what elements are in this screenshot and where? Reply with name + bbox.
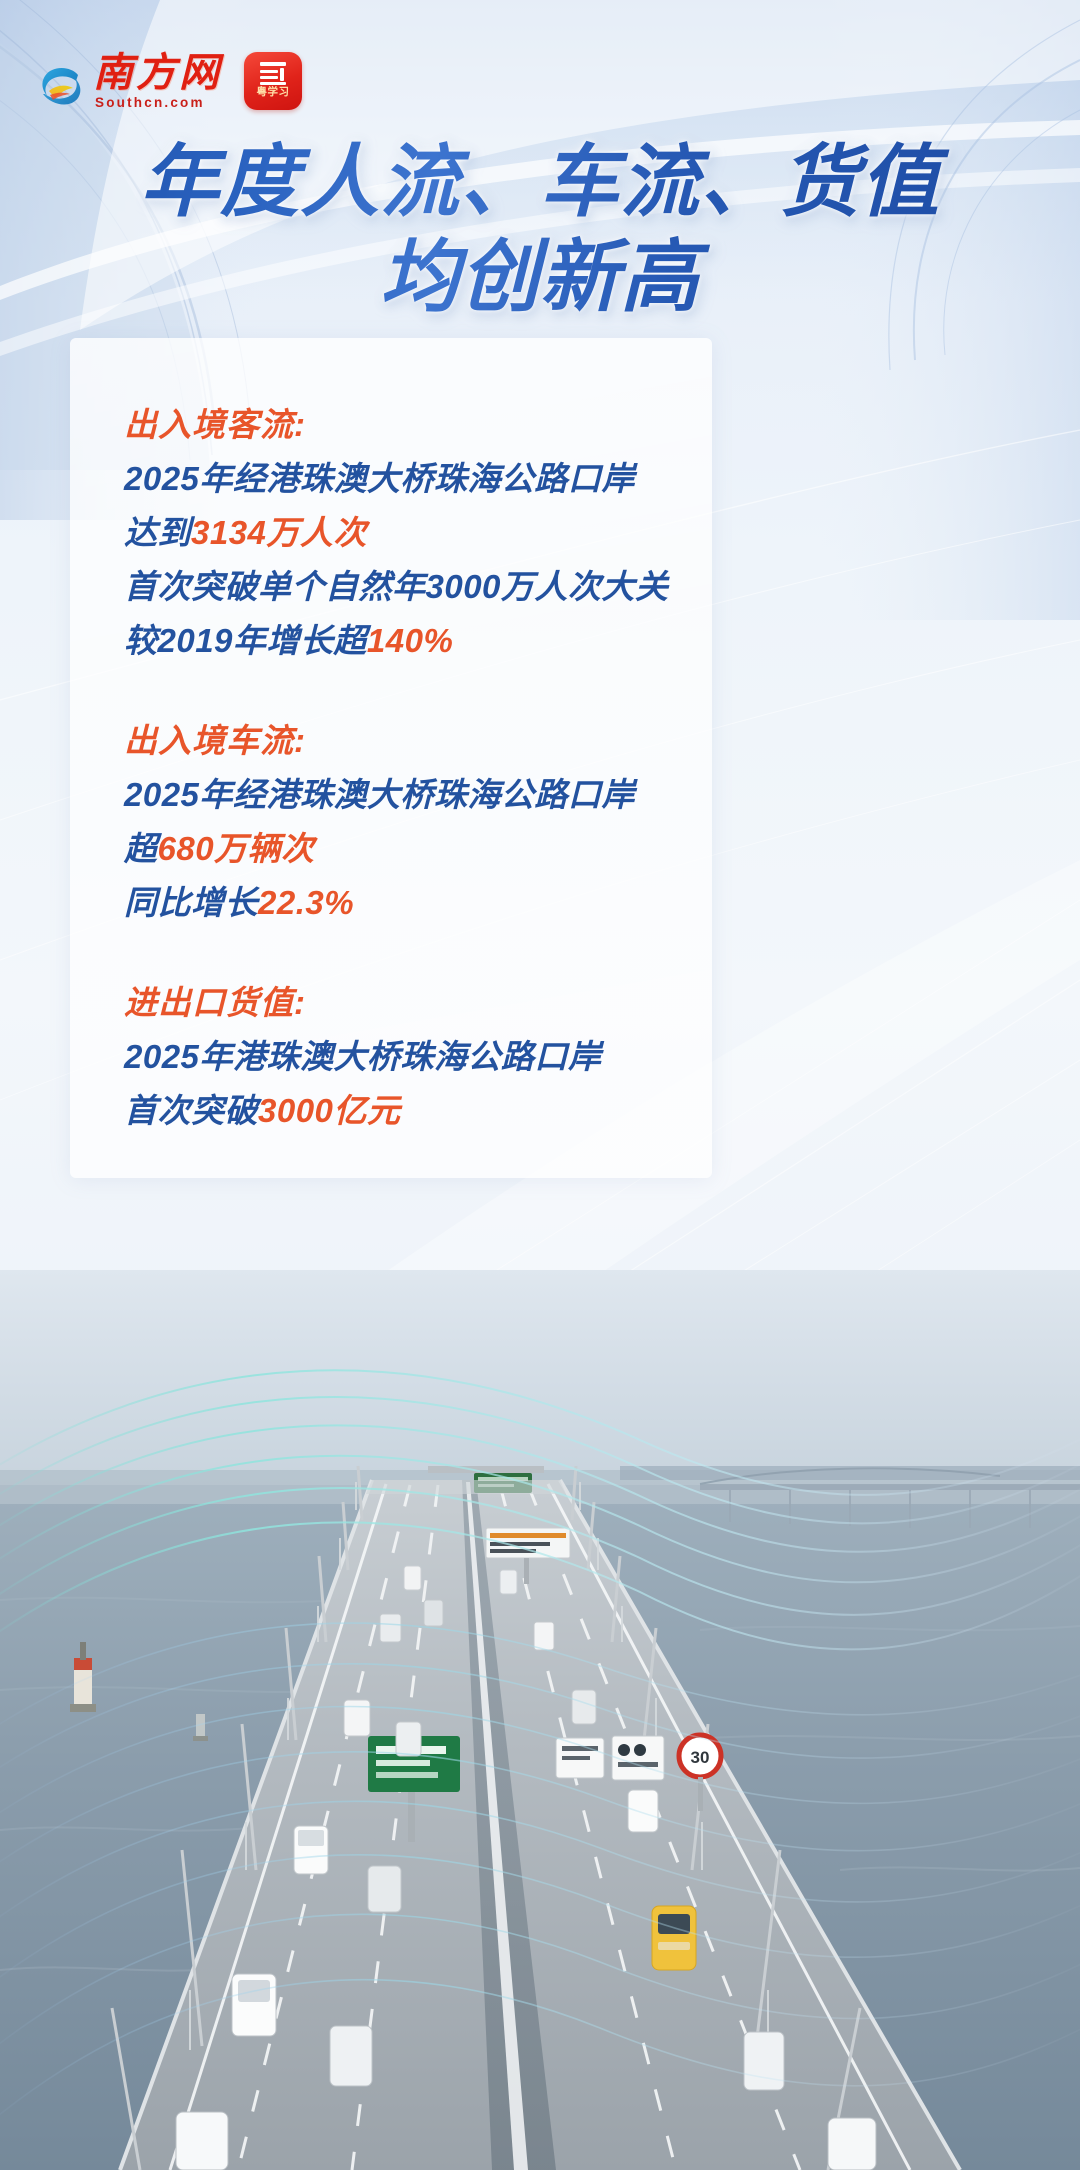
highlight-value: 140% <box>367 622 453 659</box>
book-icon <box>258 62 288 86</box>
stats-card-body: 出入境客流:2025年经港珠澳大桥珠海公路口岸达到3134万人次首次突破单个自然… <box>70 338 712 1138</box>
brand-header: 南方网 Southcn.com 粤学习 <box>38 52 302 110</box>
stat-block-heading: 进出口货值: <box>124 976 712 1030</box>
body-text: 3000万人次 <box>426 568 602 605</box>
stat-block-line: 2025年港珠澳大桥珠海公路口岸 <box>124 1030 712 1084</box>
body-text: 首次突破单个自然年 <box>124 568 426 605</box>
stat-block-heading: 出入境客流: <box>124 398 712 452</box>
southcn-logo[interactable]: 南方网 Southcn.com <box>38 53 222 110</box>
page-title-line-2: 均创新高 <box>0 229 1080 324</box>
stat-block-line: 达到3134万人次 <box>124 506 712 560</box>
body-text: 达到 <box>124 514 191 551</box>
stat-block-line: 2025年经港珠澳大桥珠海公路口岸 <box>124 452 712 506</box>
stat-block: 进出口货值:2025年港珠澳大桥珠海公路口岸首次突破3000亿元 <box>124 976 712 1138</box>
highlight-value: 3000亿元 <box>258 1092 400 1129</box>
stat-block-line: 首次突破3000亿元 <box>124 1084 712 1138</box>
hong-kong-zhuhai-macao-bridge-photo: 30 <box>0 1270 1080 2170</box>
stat-block-line: 2025年经港珠澳大桥珠海公路口岸 <box>124 768 712 822</box>
yuexuexi-badge-label: 粤学习 <box>257 87 290 98</box>
body-text: 2025年港珠澳大桥珠海公路口岸 <box>124 1038 601 1075</box>
highlight-value: 22.3% <box>258 884 354 921</box>
page-title-line-1: 年度人流、车流、货值 <box>0 134 1080 229</box>
stat-block-line: 首次突破单个自然年3000万人次大关 <box>124 560 712 614</box>
body-text: 超 <box>124 830 158 867</box>
yuexuexi-app-badge[interactable]: 粤学习 <box>244 52 302 110</box>
body-text: 2025年经港珠澳大桥珠海公路口岸 <box>124 460 635 497</box>
stat-block-heading: 出入境车流: <box>124 714 712 768</box>
stat-block: 出入境客流:2025年经港珠澳大桥珠海公路口岸达到3134万人次首次突破单个自然… <box>124 398 712 668</box>
stats-card: 出入境客流:2025年经港珠澳大桥珠海公路口岸达到3134万人次首次突破单个自然… <box>70 338 712 1178</box>
body-text: 较2019年增长超 <box>124 622 367 659</box>
stat-block: 出入境车流:2025年经港珠澳大桥珠海公路口岸超680万辆次同比增长22.3% <box>124 714 712 930</box>
svg-text:30: 30 <box>691 1748 710 1767</box>
stat-block-line: 较2019年增长超140% <box>124 614 712 668</box>
stat-block-line: 超680万辆次 <box>124 822 712 876</box>
stat-block-line: 同比增长22.3% <box>124 876 712 930</box>
highlight-value: 3134万人次 <box>191 514 367 551</box>
body-text: 同比增长 <box>124 884 258 921</box>
page-title: 年度人流、车流、货值 均创新高 <box>0 134 1080 324</box>
body-text: 大关 <box>601 568 668 605</box>
highlight-value: 680万辆次 <box>158 830 315 867</box>
body-text: 首次突破 <box>124 1092 258 1129</box>
southcn-swoosh-logo-icon <box>38 64 84 110</box>
southcn-logo-en: Southcn.com <box>93 95 205 110</box>
infographic-poster: 南方网 Southcn.com 粤学习 年度人流、车流、货值 均创新高 出入境客… <box>0 0 1080 2170</box>
southcn-logo-cn: 南方网 <box>93 53 222 93</box>
body-text: 2025年经港珠澳大桥珠海公路口岸 <box>124 776 635 813</box>
